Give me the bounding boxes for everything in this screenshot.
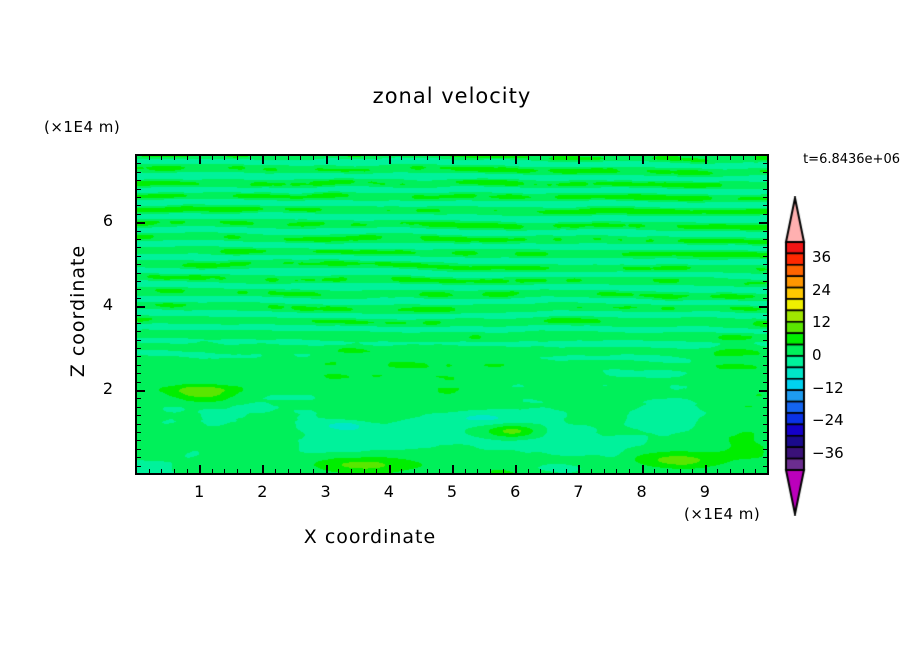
y-minor-tick: [136, 415, 141, 416]
y-minor-tick: [136, 273, 141, 274]
x-minor-tick: [604, 469, 605, 474]
y-minor-tick: [136, 382, 141, 383]
y-minor-tick: [136, 247, 141, 248]
y-minor-tick: [136, 180, 141, 181]
x-minor-tick: [528, 469, 529, 474]
colorbar-tick-label: −24: [812, 411, 844, 429]
x-minor-tick-top: [364, 155, 365, 160]
x-minor-tick: [490, 469, 491, 474]
y-minor-tick: [136, 331, 141, 332]
colorbar-tick-label: 12: [812, 313, 831, 331]
y-minor-tick: [136, 298, 141, 299]
y-minor-tick-right: [763, 340, 768, 341]
x-minor-tick: [439, 469, 440, 474]
x-minor-tick-top: [667, 155, 668, 160]
y-minor-tick: [136, 398, 141, 399]
y-major-tick: [136, 306, 145, 308]
x-major-tick-top: [515, 155, 517, 164]
x-axis-unit-label: (×1E4 m): [684, 505, 760, 523]
y-minor-tick: [136, 340, 141, 341]
x-minor-tick: [174, 469, 175, 474]
y-minor-tick: [136, 256, 141, 257]
y-minor-tick-right: [763, 172, 768, 173]
x-minor-tick: [376, 469, 377, 474]
x-minor-tick-top: [250, 155, 251, 160]
x-minor-tick: [275, 469, 276, 474]
contour-field: [136, 155, 768, 474]
x-minor-tick: [477, 469, 478, 474]
x-major-tick: [262, 465, 264, 474]
x-minor-tick: [743, 469, 744, 474]
x-minor-tick: [755, 469, 756, 474]
colorbar-tick-label: −12: [812, 379, 844, 397]
x-tick-label: 8: [617, 482, 667, 501]
x-minor-tick: [288, 469, 289, 474]
y-minor-tick: [136, 289, 141, 290]
x-minor-tick: [616, 469, 617, 474]
x-minor-tick-top: [465, 155, 466, 160]
x-tick-label: 9: [680, 482, 730, 501]
y-minor-tick-right: [763, 264, 768, 265]
y-minor-tick-right: [763, 466, 768, 467]
y-axis-title: Z coordinate: [67, 211, 89, 411]
x-minor-tick: [503, 469, 504, 474]
x-minor-tick: [401, 469, 402, 474]
x-minor-tick-top: [604, 155, 605, 160]
colorbar-tick-label: −36: [812, 444, 844, 462]
y-minor-tick: [136, 440, 141, 441]
y-minor-tick: [136, 457, 141, 458]
x-minor-tick-top: [566, 155, 567, 160]
x-minor-tick-top: [288, 155, 289, 160]
x-minor-tick: [465, 469, 466, 474]
y-minor-tick-right: [763, 231, 768, 232]
x-major-tick-top: [705, 155, 707, 164]
x-minor-tick: [629, 469, 630, 474]
x-major-tick: [389, 465, 391, 474]
x-minor-tick-top: [540, 155, 541, 160]
x-minor-tick-top: [427, 155, 428, 160]
x-minor-tick: [553, 469, 554, 474]
x-minor-tick-top: [680, 155, 681, 160]
x-minor-tick-top: [528, 155, 529, 160]
y-tick-label: 6: [90, 211, 126, 230]
colorbar-tick-label: 36: [812, 248, 831, 266]
y-minor-tick: [136, 281, 141, 282]
y-minor-tick-right: [763, 197, 768, 198]
x-minor-tick-top: [743, 155, 744, 160]
x-minor-tick: [364, 469, 365, 474]
y-minor-tick: [136, 449, 141, 450]
page-title: zonal velocity: [0, 84, 904, 108]
x-minor-tick: [414, 469, 415, 474]
x-minor-tick: [212, 469, 213, 474]
y-minor-tick-right: [763, 180, 768, 181]
x-major-tick-top: [326, 155, 328, 164]
x-minor-tick-top: [629, 155, 630, 160]
y-minor-tick-right: [763, 424, 768, 425]
x-minor-tick-top: [490, 155, 491, 160]
x-minor-tick: [237, 469, 238, 474]
y-minor-tick-right: [763, 323, 768, 324]
x-minor-tick: [161, 469, 162, 474]
y-major-tick-right: [759, 306, 768, 308]
x-tick-label: 6: [490, 482, 540, 501]
x-minor-tick-top: [591, 155, 592, 160]
y-minor-tick-right: [763, 356, 768, 357]
y-axis-unit-label: (×1E4 m): [44, 118, 120, 136]
x-minor-tick-top: [237, 155, 238, 160]
y-minor-tick-right: [763, 315, 768, 316]
y-minor-tick-right: [763, 449, 768, 450]
y-minor-tick-right: [763, 398, 768, 399]
y-minor-tick-right: [763, 247, 768, 248]
x-minor-tick-top: [212, 155, 213, 160]
y-minor-tick: [136, 231, 141, 232]
y-minor-tick-right: [763, 373, 768, 374]
y-minor-tick-right: [763, 382, 768, 383]
y-minor-tick-right: [763, 289, 768, 290]
x-major-tick-top: [452, 155, 454, 164]
x-minor-tick-top: [300, 155, 301, 160]
y-minor-tick-right: [763, 365, 768, 366]
x-minor-tick-top: [503, 155, 504, 160]
x-minor-tick-top: [553, 155, 554, 160]
x-major-tick-top: [262, 155, 264, 164]
timestamp-annotation: t=6.8436e+06: [803, 152, 900, 167]
x-minor-tick: [654, 469, 655, 474]
y-minor-tick: [136, 239, 141, 240]
y-minor-tick: [136, 323, 141, 324]
y-major-tick: [136, 390, 145, 392]
colorbar-tick-label: 0: [812, 346, 822, 364]
y-minor-tick-right: [763, 273, 768, 274]
x-tick-label: 2: [237, 482, 287, 501]
x-minor-tick: [730, 469, 731, 474]
y-minor-tick-right: [763, 214, 768, 215]
x-minor-tick-top: [616, 155, 617, 160]
y-minor-tick: [136, 348, 141, 349]
y-major-tick: [136, 222, 145, 224]
x-minor-tick: [300, 469, 301, 474]
y-minor-tick-right: [763, 432, 768, 433]
x-minor-tick-top: [149, 155, 150, 160]
x-minor-tick: [351, 469, 352, 474]
x-minor-tick: [717, 469, 718, 474]
y-minor-tick-right: [763, 298, 768, 299]
colorbar-tick-label: 24: [812, 281, 831, 299]
x-minor-tick: [591, 469, 592, 474]
y-minor-tick-right: [763, 239, 768, 240]
y-tick-label: 4: [90, 295, 126, 314]
y-minor-tick: [136, 214, 141, 215]
x-minor-tick-top: [351, 155, 352, 160]
y-minor-tick-right: [763, 205, 768, 206]
y-minor-tick-right: [763, 281, 768, 282]
y-minor-tick: [136, 424, 141, 425]
x-minor-tick-top: [161, 155, 162, 160]
x-major-tick: [515, 465, 517, 474]
x-tick-label: 3: [301, 482, 351, 501]
x-tick-label: 4: [364, 482, 414, 501]
x-minor-tick-top: [730, 155, 731, 160]
x-major-tick-top: [642, 155, 644, 164]
x-axis-title: X coordinate: [0, 526, 740, 548]
y-minor-tick-right: [763, 415, 768, 416]
x-minor-tick-top: [692, 155, 693, 160]
x-minor-tick-top: [313, 155, 314, 160]
x-minor-tick-top: [439, 155, 440, 160]
x-minor-tick: [224, 469, 225, 474]
x-major-tick: [705, 465, 707, 474]
colorbar: [783, 196, 807, 516]
x-major-tick: [326, 465, 328, 474]
x-tick-label: 1: [174, 482, 224, 501]
y-major-tick-right: [759, 222, 768, 224]
x-minor-tick-top: [654, 155, 655, 160]
x-minor-tick-top: [224, 155, 225, 160]
y-minor-tick-right: [763, 189, 768, 190]
x-minor-tick-top: [174, 155, 175, 160]
x-major-tick-top: [389, 155, 391, 164]
x-tick-label: 5: [427, 482, 477, 501]
y-minor-tick: [136, 163, 141, 164]
y-minor-tick-right: [763, 407, 768, 408]
y-minor-tick: [136, 373, 141, 374]
x-minor-tick: [667, 469, 668, 474]
y-minor-tick: [136, 172, 141, 173]
x-minor-tick: [692, 469, 693, 474]
x-minor-tick-top: [477, 155, 478, 160]
y-minor-tick: [136, 205, 141, 206]
x-minor-tick-top: [275, 155, 276, 160]
y-minor-tick: [136, 356, 141, 357]
x-minor-tick-top: [338, 155, 339, 160]
y-minor-tick: [136, 407, 141, 408]
x-minor-tick: [250, 469, 251, 474]
x-minor-tick: [149, 469, 150, 474]
y-minor-tick-right: [763, 440, 768, 441]
x-minor-tick: [313, 469, 314, 474]
x-minor-tick: [187, 469, 188, 474]
x-tick-label: 7: [553, 482, 603, 501]
y-major-tick-right: [759, 390, 768, 392]
y-minor-tick: [136, 466, 141, 467]
x-minor-tick: [427, 469, 428, 474]
x-minor-tick-top: [401, 155, 402, 160]
y-minor-tick-right: [763, 163, 768, 164]
x-minor-tick-top: [755, 155, 756, 160]
x-minor-tick: [680, 469, 681, 474]
y-minor-tick: [136, 315, 141, 316]
y-minor-tick: [136, 365, 141, 366]
y-minor-tick-right: [763, 256, 768, 257]
x-minor-tick-top: [717, 155, 718, 160]
x-major-tick: [578, 465, 580, 474]
x-minor-tick-top: [187, 155, 188, 160]
x-minor-tick-top: [414, 155, 415, 160]
x-minor-tick-top: [376, 155, 377, 160]
x-major-tick-top: [578, 155, 580, 164]
y-minor-tick-right: [763, 331, 768, 332]
y-minor-tick: [136, 189, 141, 190]
y-minor-tick: [136, 432, 141, 433]
x-minor-tick: [566, 469, 567, 474]
x-major-tick-top: [199, 155, 201, 164]
y-minor-tick-right: [763, 457, 768, 458]
y-minor-tick-right: [763, 348, 768, 349]
x-minor-tick: [540, 469, 541, 474]
x-minor-tick: [338, 469, 339, 474]
y-minor-tick: [136, 264, 141, 265]
y-tick-label: 2: [90, 379, 126, 398]
x-major-tick: [199, 465, 201, 474]
x-major-tick: [452, 465, 454, 474]
y-minor-tick: [136, 197, 141, 198]
x-major-tick: [642, 465, 644, 474]
